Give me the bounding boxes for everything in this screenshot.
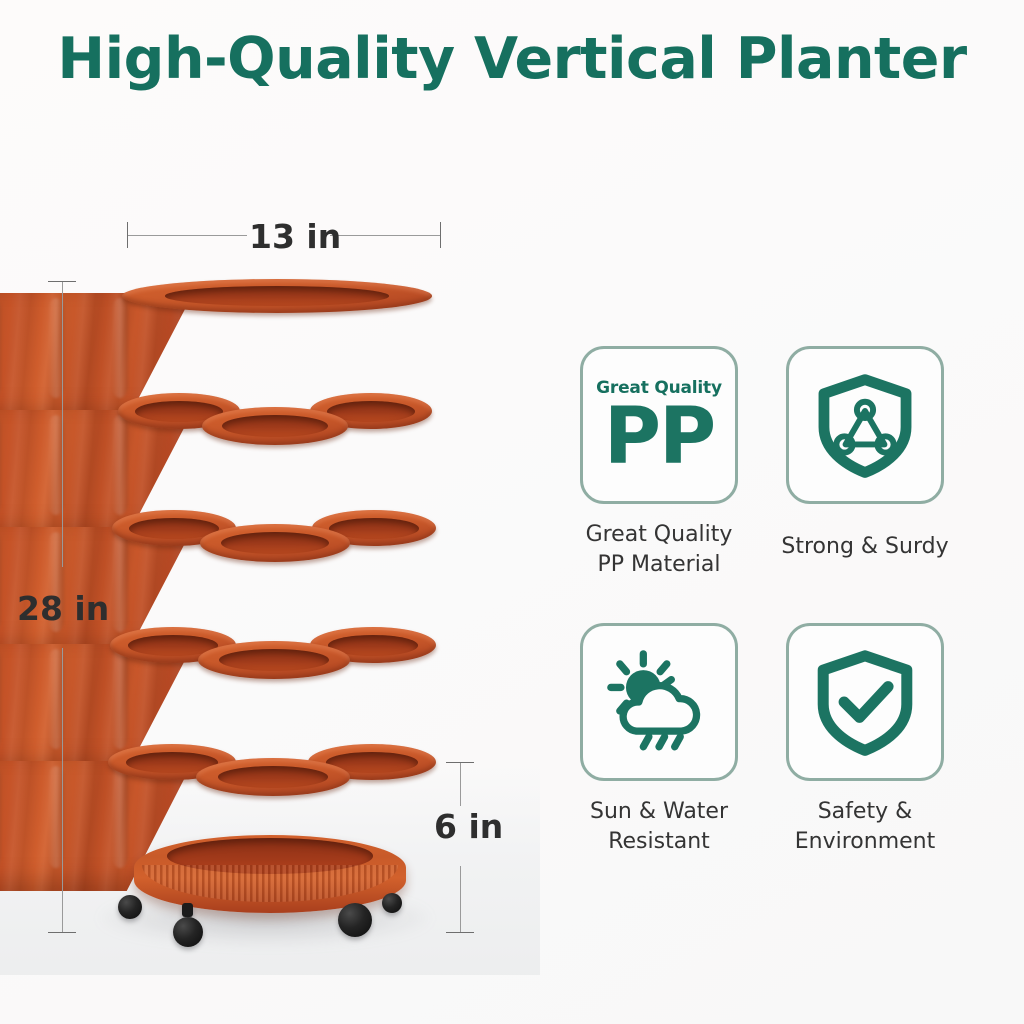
caster-wheel-back-left xyxy=(118,895,142,919)
rolling-base xyxy=(134,835,406,913)
caster-wheel-back-right xyxy=(382,893,402,913)
sun-cloud-rain-icon xyxy=(580,623,738,781)
dimension-height-label: 28 in xyxy=(17,589,109,628)
dimension-tier-height-label: 6 in xyxy=(434,807,503,846)
infographic-page: High-Quality Vertical Planter xyxy=(0,0,1024,1024)
feature-caption: Strong & Surdy xyxy=(781,532,948,562)
caster-wheel-front-left xyxy=(173,917,203,947)
tier-pocket-front xyxy=(200,524,350,562)
product-photo xyxy=(60,255,480,975)
feature-pp-material[interactable]: Great Quality PP Great Quality PP Materi… xyxy=(556,346,762,579)
feature-sun-water-resistant[interactable]: Sun & Water Resistant xyxy=(556,623,762,856)
pp-material-icon: Great Quality PP xyxy=(580,346,738,504)
base-ribbing xyxy=(142,865,398,902)
vertical-planter-stack xyxy=(60,255,480,975)
pp-badge-text: PP xyxy=(604,402,714,474)
shield-triangle-nodes-icon xyxy=(786,346,944,504)
caster-stem-front-left xyxy=(182,903,193,917)
feature-row-top: Great Quality PP Great Quality PP Materi… xyxy=(556,346,968,579)
shield-check-icon xyxy=(786,623,944,781)
page-title: High-Quality Vertical Planter xyxy=(0,26,1024,92)
tier-pocket-front xyxy=(196,758,350,796)
tier-pocket-front xyxy=(202,407,348,445)
caster-wheel-front-right xyxy=(338,903,372,937)
feature-safety-environment[interactable]: Safety & Environment xyxy=(762,623,968,856)
feature-grid: Great Quality PP Great Quality PP Materi… xyxy=(556,346,968,857)
tier-pocket-front xyxy=(198,641,350,679)
tier-rim-back xyxy=(122,279,432,313)
feature-caption: Safety & Environment xyxy=(795,797,935,856)
dimension-width-label: 13 in xyxy=(249,217,341,256)
feature-caption: Great Quality PP Material xyxy=(586,520,733,579)
feature-strong-sturdy[interactable]: Strong & Surdy xyxy=(762,346,968,579)
feature-caption: Sun & Water Resistant xyxy=(590,797,728,856)
feature-row-bottom: Sun & Water Resistant Safety & Environme… xyxy=(556,623,968,856)
